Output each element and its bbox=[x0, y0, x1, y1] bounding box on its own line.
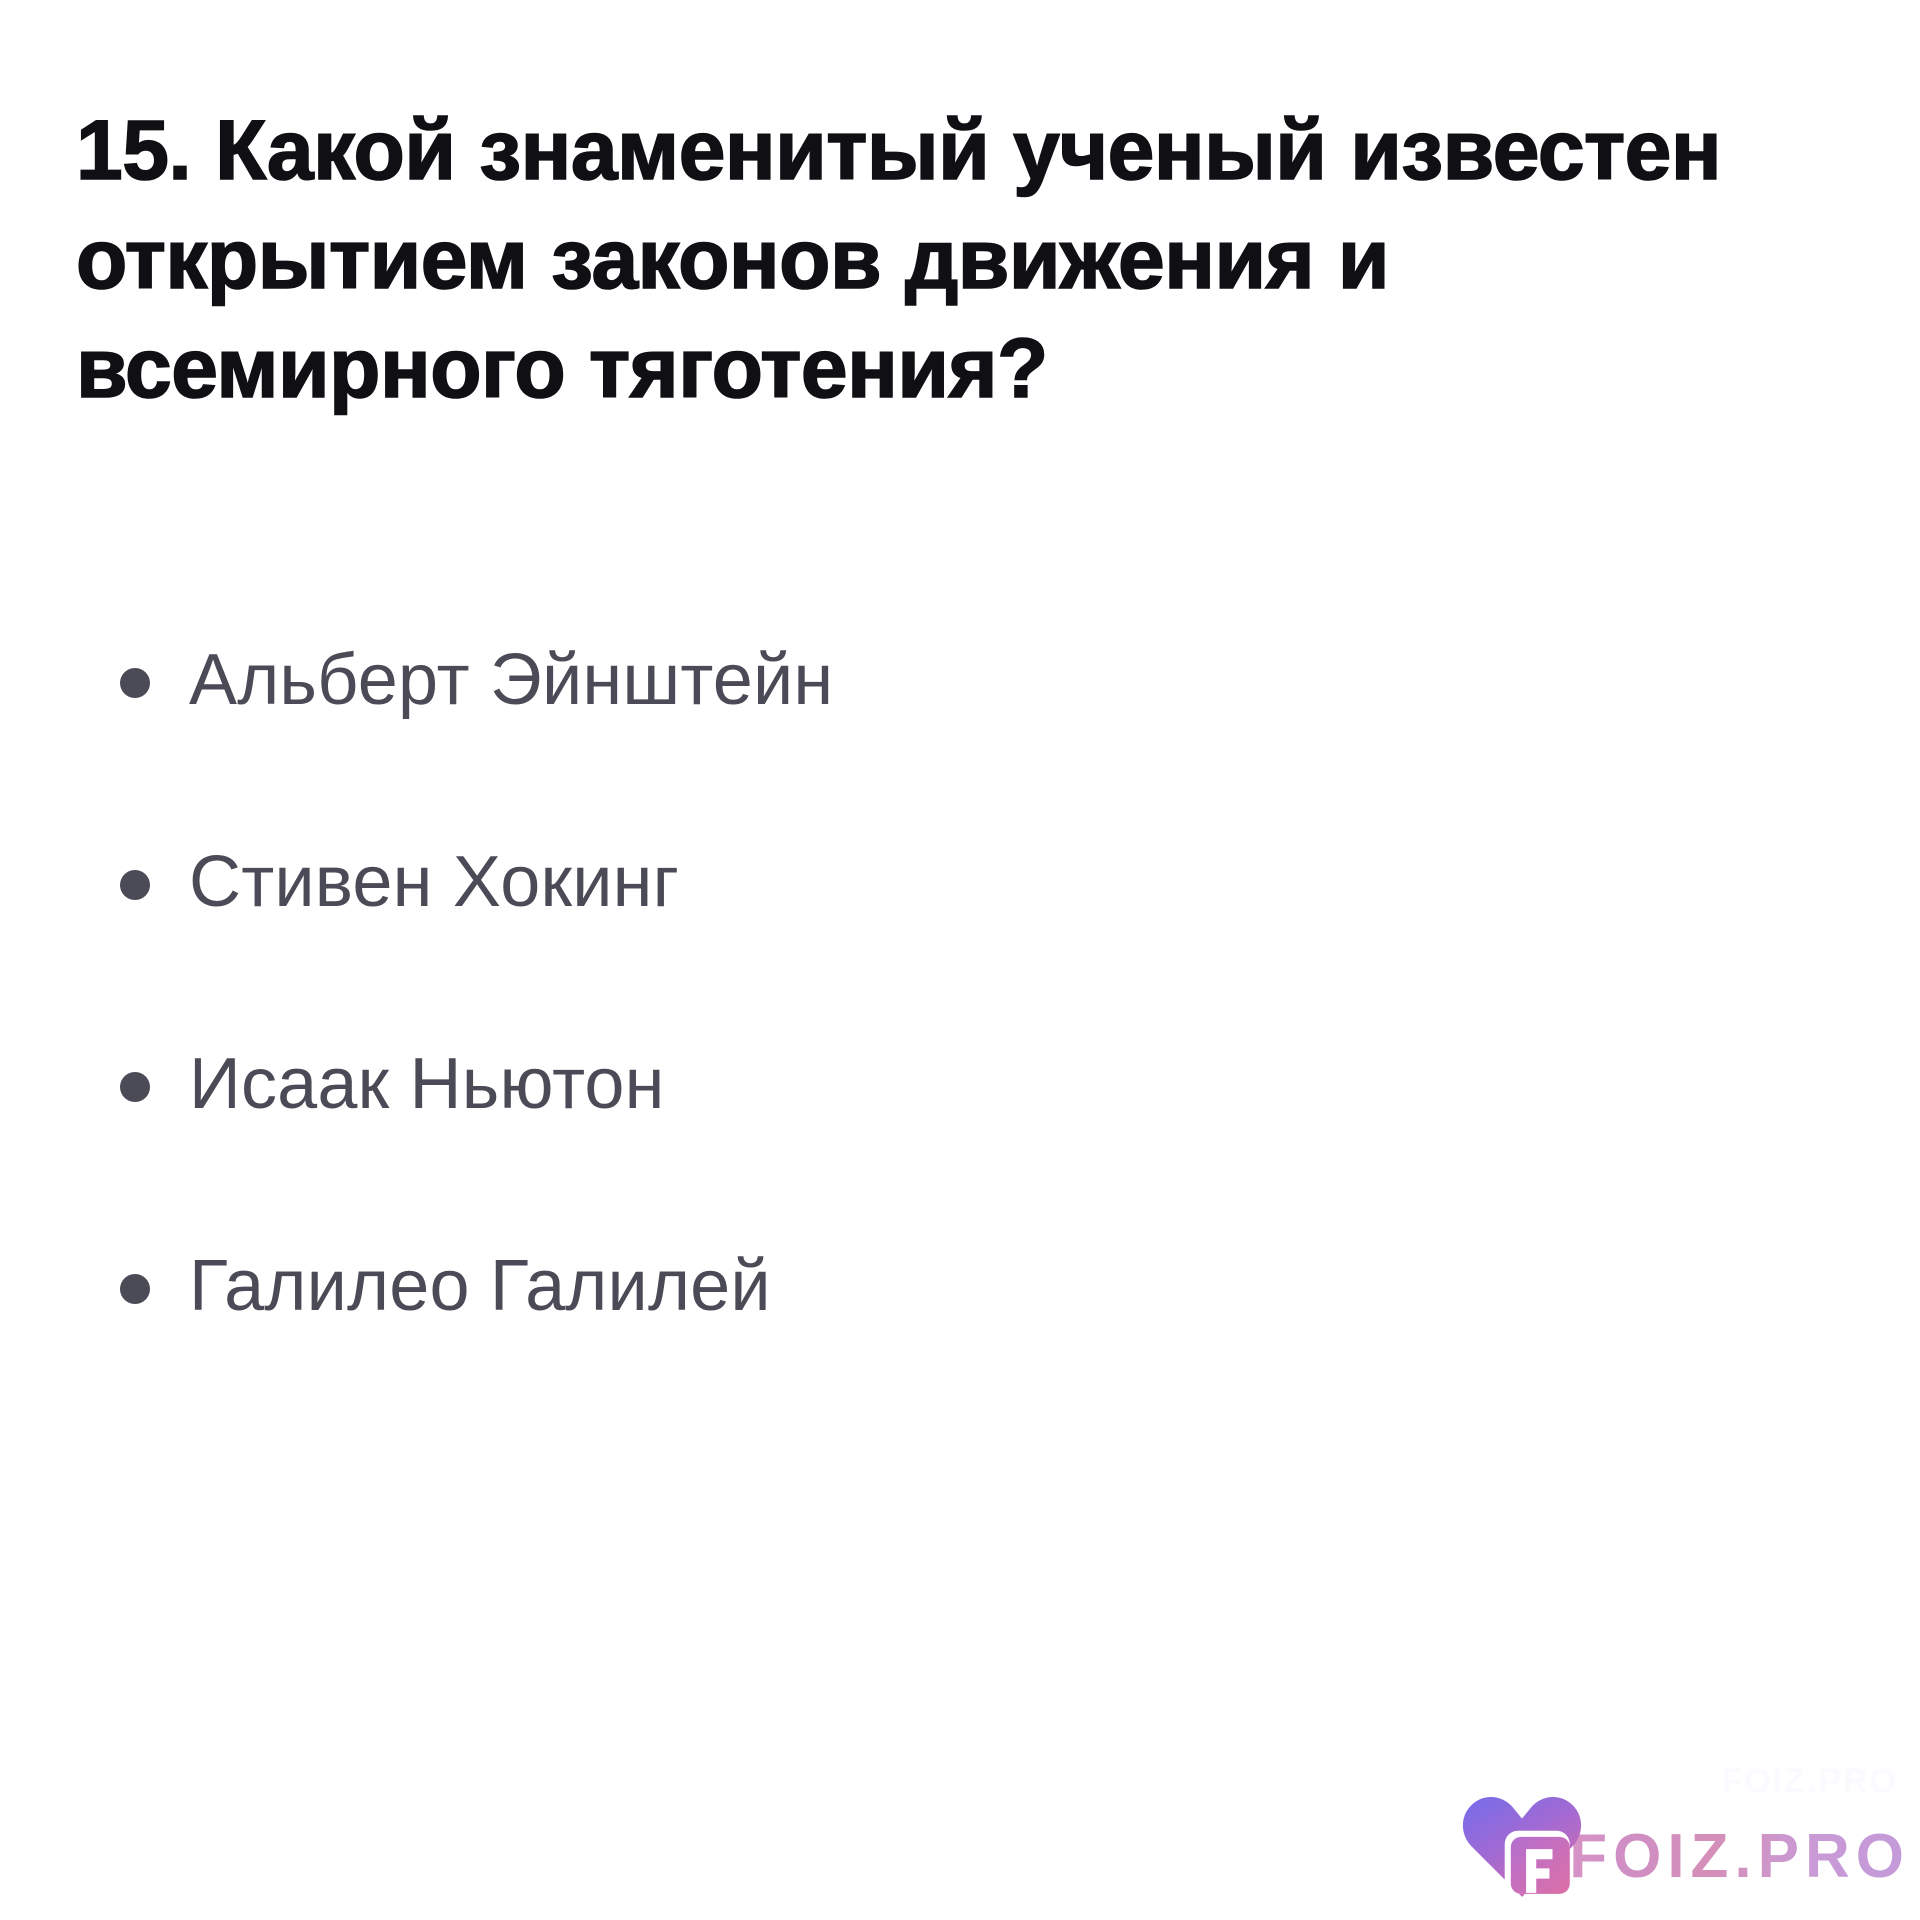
option-label: Исаак Ньютон bbox=[189, 1044, 1776, 1125]
question-block: 15. Какой знаменитый ученый известен отк… bbox=[76, 96, 1776, 424]
brand-wordmark: FOIZ.PRO bbox=[1569, 1821, 1910, 1892]
list-item[interactable]: Исаак Ньютон bbox=[76, 1044, 1776, 1190]
option-label: Стивен Хокинг bbox=[189, 842, 1776, 923]
list-item[interactable]: Стивен Хокинг bbox=[76, 842, 1776, 988]
bullet-dot-icon bbox=[120, 870, 150, 900]
quiz-card: 15. Какой знаменитый ученый известен отк… bbox=[0, 0, 1920, 1920]
page-title: 15. Какой знаменитый ученый известен отк… bbox=[76, 96, 1776, 424]
answer-options-list: Альберт Эйнштейн Стивен Хокинг Исаак Нью… bbox=[76, 640, 1776, 1392]
bullet-dot-icon bbox=[120, 668, 150, 698]
bullet-dot-icon bbox=[120, 1274, 150, 1304]
heart-with-f-badge-icon bbox=[1461, 1782, 1583, 1904]
brand-ghost-text: FOIZ.PRO bbox=[1721, 1762, 1898, 1801]
bullet-dot-icon bbox=[120, 1072, 150, 1102]
option-label: Альберт Эйнштейн bbox=[189, 640, 1776, 721]
list-item[interactable]: Альберт Эйнштейн bbox=[76, 640, 1776, 786]
list-item[interactable]: Галилео Галилей bbox=[76, 1246, 1776, 1392]
option-label: Галилео Галилей bbox=[189, 1246, 1776, 1327]
brand-watermark[interactable]: FOIZ.PRO bbox=[1461, 1768, 1910, 1918]
